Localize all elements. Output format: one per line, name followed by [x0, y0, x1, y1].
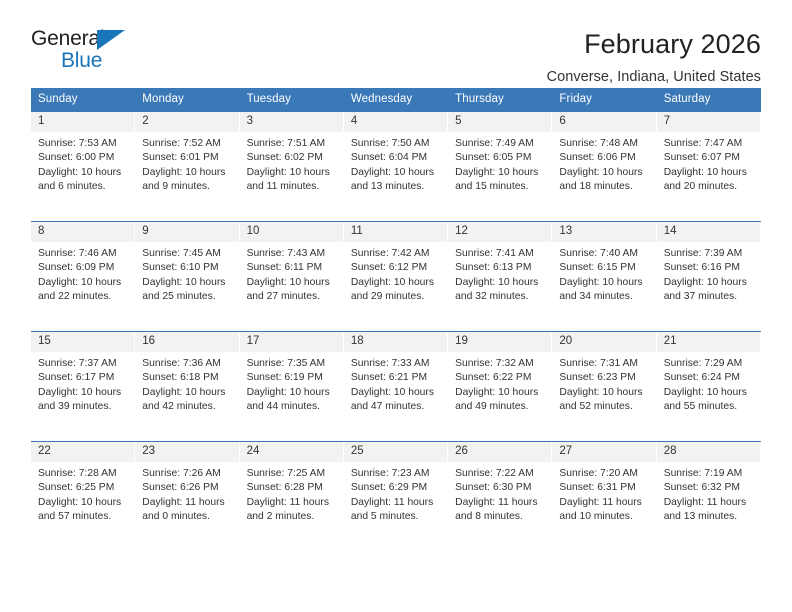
- sunset-text: Sunset: 6:01 PM: [142, 151, 232, 165]
- daylight-text: Daylight: 10 hours and 44 minutes.: [247, 386, 337, 415]
- sunrise-text: Sunrise: 7:41 AM: [455, 247, 545, 261]
- sunrise-text: Sunrise: 7:43 AM: [247, 247, 337, 261]
- day-details: Sunrise: 7:29 AM Sunset: 6:24 PM Dayligh…: [657, 352, 760, 415]
- daylight-text: Daylight: 10 hours and 37 minutes.: [664, 276, 754, 305]
- sunrise-text: Sunrise: 7:52 AM: [142, 137, 232, 151]
- brand-name-blue: Blue: [61, 50, 147, 72]
- sunrise-text: Sunrise: 7:36 AM: [142, 357, 232, 371]
- day-cell[interactable]: 28 Sunrise: 7:19 AM Sunset: 6:32 PM Dayl…: [657, 442, 761, 551]
- sunset-text: Sunset: 6:11 PM: [247, 261, 337, 275]
- daylight-text: Daylight: 10 hours and 32 minutes.: [455, 276, 545, 305]
- sunset-text: Sunset: 6:18 PM: [142, 371, 232, 385]
- calendar-page: General Blue February 2026 Converse, Ind…: [0, 0, 792, 612]
- day-details: Sunrise: 7:20 AM Sunset: 6:31 PM Dayligh…: [552, 462, 655, 525]
- sunset-text: Sunset: 6:13 PM: [455, 261, 545, 275]
- page-subtitle: Converse, Indiana, United States: [547, 67, 761, 87]
- sunset-text: Sunset: 6:04 PM: [351, 151, 441, 165]
- day-details: Sunrise: 7:49 AM Sunset: 6:05 PM Dayligh…: [448, 132, 551, 195]
- day-cell[interactable]: 24 Sunrise: 7:25 AM Sunset: 6:28 PM Dayl…: [240, 442, 344, 551]
- day-cell[interactable]: 4 Sunrise: 7:50 AM Sunset: 6:04 PM Dayli…: [344, 112, 448, 221]
- day-cell[interactable]: 12 Sunrise: 7:41 AM Sunset: 6:13 PM Dayl…: [448, 222, 552, 331]
- sunrise-text: Sunrise: 7:20 AM: [559, 467, 649, 481]
- weekday-header-saturday: Saturday: [657, 88, 761, 111]
- day-details: Sunrise: 7:33 AM Sunset: 6:21 PM Dayligh…: [344, 352, 447, 415]
- sunrise-text: Sunrise: 7:50 AM: [351, 137, 441, 151]
- sunset-text: Sunset: 6:26 PM: [142, 481, 232, 495]
- day-cell[interactable]: 25 Sunrise: 7:23 AM Sunset: 6:29 PM Dayl…: [344, 442, 448, 551]
- day-cell[interactable]: 19 Sunrise: 7:32 AM Sunset: 6:22 PM Dayl…: [448, 332, 552, 441]
- day-cell[interactable]: 23 Sunrise: 7:26 AM Sunset: 6:26 PM Dayl…: [135, 442, 239, 551]
- day-details: Sunrise: 7:53 AM Sunset: 6:00 PM Dayligh…: [31, 132, 134, 195]
- day-details: Sunrise: 7:19 AM Sunset: 6:32 PM Dayligh…: [657, 462, 760, 525]
- sunset-text: Sunset: 6:30 PM: [455, 481, 545, 495]
- daylight-text: Daylight: 10 hours and 39 minutes.: [38, 386, 128, 415]
- day-details: Sunrise: 7:40 AM Sunset: 6:15 PM Dayligh…: [552, 242, 655, 305]
- day-number: 23: [135, 442, 238, 462]
- day-details: Sunrise: 7:28 AM Sunset: 6:25 PM Dayligh…: [31, 462, 134, 525]
- day-number: 3: [240, 112, 343, 132]
- day-cell[interactable]: 21 Sunrise: 7:29 AM Sunset: 6:24 PM Dayl…: [657, 332, 761, 441]
- day-cell[interactable]: 26 Sunrise: 7:22 AM Sunset: 6:30 PM Dayl…: [448, 442, 552, 551]
- page-title: February 2026: [547, 28, 761, 60]
- sunset-text: Sunset: 6:05 PM: [455, 151, 545, 165]
- sunset-text: Sunset: 6:10 PM: [142, 261, 232, 275]
- day-number: 21: [657, 332, 760, 352]
- sunrise-text: Sunrise: 7:37 AM: [38, 357, 128, 371]
- day-number: 1: [31, 112, 134, 132]
- day-cell[interactable]: 22 Sunrise: 7:28 AM Sunset: 6:25 PM Dayl…: [31, 442, 135, 551]
- day-cell[interactable]: 5 Sunrise: 7:49 AM Sunset: 6:05 PM Dayli…: [448, 112, 552, 221]
- daylight-text: Daylight: 11 hours and 0 minutes.: [142, 496, 232, 525]
- day-cell[interactable]: 8 Sunrise: 7:46 AM Sunset: 6:09 PM Dayli…: [31, 222, 135, 331]
- day-cell[interactable]: 6 Sunrise: 7:48 AM Sunset: 6:06 PM Dayli…: [552, 112, 656, 221]
- day-number: 20: [552, 332, 655, 352]
- day-details: Sunrise: 7:23 AM Sunset: 6:29 PM Dayligh…: [344, 462, 447, 525]
- daylight-text: Daylight: 10 hours and 52 minutes.: [559, 386, 649, 415]
- day-number: 11: [344, 222, 447, 242]
- sunset-text: Sunset: 6:32 PM: [664, 481, 754, 495]
- week-row: 22 Sunrise: 7:28 AM Sunset: 6:25 PM Dayl…: [31, 441, 761, 551]
- sunrise-text: Sunrise: 7:19 AM: [664, 467, 754, 481]
- day-details: Sunrise: 7:31 AM Sunset: 6:23 PM Dayligh…: [552, 352, 655, 415]
- day-details: Sunrise: 7:36 AM Sunset: 6:18 PM Dayligh…: [135, 352, 238, 415]
- day-details: Sunrise: 7:50 AM Sunset: 6:04 PM Dayligh…: [344, 132, 447, 195]
- sunrise-text: Sunrise: 7:35 AM: [247, 357, 337, 371]
- calendar-grid: Sunday Monday Tuesday Wednesday Thursday…: [31, 88, 761, 551]
- sunrise-text: Sunrise: 7:40 AM: [559, 247, 649, 261]
- sunset-text: Sunset: 6:21 PM: [351, 371, 441, 385]
- sunset-text: Sunset: 6:17 PM: [38, 371, 128, 385]
- sunrise-text: Sunrise: 7:26 AM: [142, 467, 232, 481]
- sunset-text: Sunset: 6:25 PM: [38, 481, 128, 495]
- sunrise-text: Sunrise: 7:47 AM: [664, 137, 754, 151]
- sunrise-text: Sunrise: 7:39 AM: [664, 247, 754, 261]
- daylight-text: Daylight: 10 hours and 27 minutes.: [247, 276, 337, 305]
- sunrise-text: Sunrise: 7:53 AM: [38, 137, 128, 151]
- sunset-text: Sunset: 6:06 PM: [559, 151, 649, 165]
- sunset-text: Sunset: 6:29 PM: [351, 481, 441, 495]
- sunrise-text: Sunrise: 7:42 AM: [351, 247, 441, 261]
- day-number: 13: [552, 222, 655, 242]
- day-cell[interactable]: 16 Sunrise: 7:36 AM Sunset: 6:18 PM Dayl…: [135, 332, 239, 441]
- day-cell[interactable]: 14 Sunrise: 7:39 AM Sunset: 6:16 PM Dayl…: [657, 222, 761, 331]
- day-cell[interactable]: 27 Sunrise: 7:20 AM Sunset: 6:31 PM Dayl…: [552, 442, 656, 551]
- day-details: Sunrise: 7:32 AM Sunset: 6:22 PM Dayligh…: [448, 352, 551, 415]
- sunset-text: Sunset: 6:07 PM: [664, 151, 754, 165]
- daylight-text: Daylight: 10 hours and 49 minutes.: [455, 386, 545, 415]
- daylight-text: Daylight: 11 hours and 10 minutes.: [559, 496, 649, 525]
- day-details: Sunrise: 7:39 AM Sunset: 6:16 PM Dayligh…: [657, 242, 760, 305]
- day-number: 25: [344, 442, 447, 462]
- sunset-text: Sunset: 6:31 PM: [559, 481, 649, 495]
- daylight-text: Daylight: 11 hours and 8 minutes.: [455, 496, 545, 525]
- week-row: 15 Sunrise: 7:37 AM Sunset: 6:17 PM Dayl…: [31, 331, 761, 441]
- sunrise-text: Sunrise: 7:33 AM: [351, 357, 441, 371]
- sunrise-text: Sunrise: 7:22 AM: [455, 467, 545, 481]
- day-details: Sunrise: 7:45 AM Sunset: 6:10 PM Dayligh…: [135, 242, 238, 305]
- day-number: 16: [135, 332, 238, 352]
- sunrise-text: Sunrise: 7:29 AM: [664, 357, 754, 371]
- day-details: Sunrise: 7:42 AM Sunset: 6:12 PM Dayligh…: [344, 242, 447, 305]
- sunrise-text: Sunrise: 7:25 AM: [247, 467, 337, 481]
- day-number: 28: [657, 442, 760, 462]
- day-cell[interactable]: 20 Sunrise: 7:31 AM Sunset: 6:23 PM Dayl…: [552, 332, 656, 441]
- day-number: 2: [135, 112, 238, 132]
- daylight-text: Daylight: 10 hours and 29 minutes.: [351, 276, 441, 305]
- day-number: 8: [31, 222, 134, 242]
- daylight-text: Daylight: 11 hours and 2 minutes.: [247, 496, 337, 525]
- day-cell[interactable]: 11 Sunrise: 7:42 AM Sunset: 6:12 PM Dayl…: [344, 222, 448, 331]
- day-details: Sunrise: 7:25 AM Sunset: 6:28 PM Dayligh…: [240, 462, 343, 525]
- brand-logo[interactable]: General Blue: [31, 28, 147, 74]
- day-cell[interactable]: 15 Sunrise: 7:37 AM Sunset: 6:17 PM Dayl…: [31, 332, 135, 441]
- sunrise-text: Sunrise: 7:32 AM: [455, 357, 545, 371]
- sunrise-text: Sunrise: 7:28 AM: [38, 467, 128, 481]
- daylight-text: Daylight: 10 hours and 34 minutes.: [559, 276, 649, 305]
- day-number: 17: [240, 332, 343, 352]
- sunrise-text: Sunrise: 7:48 AM: [559, 137, 649, 151]
- day-number: 19: [448, 332, 551, 352]
- sunrise-text: Sunrise: 7:46 AM: [38, 247, 128, 261]
- day-number: 15: [31, 332, 134, 352]
- day-number: 4: [344, 112, 447, 132]
- brand-name-general: General: [31, 28, 147, 50]
- daylight-text: Daylight: 10 hours and 55 minutes.: [664, 386, 754, 415]
- sunset-text: Sunset: 6:00 PM: [38, 151, 128, 165]
- daylight-text: Daylight: 10 hours and 47 minutes.: [351, 386, 441, 415]
- sunrise-text: Sunrise: 7:31 AM: [559, 357, 649, 371]
- sunset-text: Sunset: 6:15 PM: [559, 261, 649, 275]
- sunset-text: Sunset: 6:24 PM: [664, 371, 754, 385]
- sunrise-text: Sunrise: 7:23 AM: [351, 467, 441, 481]
- day-number: 24: [240, 442, 343, 462]
- daylight-text: Daylight: 11 hours and 5 minutes.: [351, 496, 441, 525]
- day-details: Sunrise: 7:22 AM Sunset: 6:30 PM Dayligh…: [448, 462, 551, 525]
- weekday-header-sunday: Sunday: [31, 88, 135, 111]
- day-number: 12: [448, 222, 551, 242]
- sunset-text: Sunset: 6:16 PM: [664, 261, 754, 275]
- day-details: Sunrise: 7:41 AM Sunset: 6:13 PM Dayligh…: [448, 242, 551, 305]
- day-details: Sunrise: 7:52 AM Sunset: 6:01 PM Dayligh…: [135, 132, 238, 195]
- weekday-header-thursday: Thursday: [448, 88, 552, 111]
- weekday-header-wednesday: Wednesday: [344, 88, 448, 111]
- triangle-icon: [97, 30, 125, 50]
- day-cell[interactable]: 17 Sunrise: 7:35 AM Sunset: 6:19 PM Dayl…: [240, 332, 344, 441]
- day-details: Sunrise: 7:37 AM Sunset: 6:17 PM Dayligh…: [31, 352, 134, 415]
- daylight-text: Daylight: 10 hours and 11 minutes.: [247, 166, 337, 195]
- daylight-text: Daylight: 10 hours and 18 minutes.: [559, 166, 649, 195]
- daylight-text: Daylight: 10 hours and 13 minutes.: [351, 166, 441, 195]
- day-number: 18: [344, 332, 447, 352]
- day-cell[interactable]: 2 Sunrise: 7:52 AM Sunset: 6:01 PM Dayli…: [135, 112, 239, 221]
- day-number: 9: [135, 222, 238, 242]
- day-number: 14: [657, 222, 760, 242]
- day-number: 27: [552, 442, 655, 462]
- day-details: Sunrise: 7:51 AM Sunset: 6:02 PM Dayligh…: [240, 132, 343, 195]
- day-number: 10: [240, 222, 343, 242]
- day-cell[interactable]: 3 Sunrise: 7:51 AM Sunset: 6:02 PM Dayli…: [240, 112, 344, 221]
- daylight-text: Daylight: 10 hours and 25 minutes.: [142, 276, 232, 305]
- weekday-header-friday: Friday: [552, 88, 656, 111]
- day-details: Sunrise: 7:46 AM Sunset: 6:09 PM Dayligh…: [31, 242, 134, 305]
- sunrise-text: Sunrise: 7:49 AM: [455, 137, 545, 151]
- daylight-text: Daylight: 10 hours and 22 minutes.: [38, 276, 128, 305]
- week-row: 8 Sunrise: 7:46 AM Sunset: 6:09 PM Dayli…: [31, 221, 761, 331]
- day-cell[interactable]: 10 Sunrise: 7:43 AM Sunset: 6:11 PM Dayl…: [240, 222, 344, 331]
- day-number: 22: [31, 442, 134, 462]
- daylight-text: Daylight: 10 hours and 9 minutes.: [142, 166, 232, 195]
- day-details: Sunrise: 7:48 AM Sunset: 6:06 PM Dayligh…: [552, 132, 655, 195]
- weekday-header-row: Sunday Monday Tuesday Wednesday Thursday…: [31, 88, 761, 111]
- sunset-text: Sunset: 6:28 PM: [247, 481, 337, 495]
- day-number: 7: [657, 112, 760, 132]
- sunrise-text: Sunrise: 7:45 AM: [142, 247, 232, 261]
- daylight-text: Daylight: 10 hours and 20 minutes.: [664, 166, 754, 195]
- day-cell[interactable]: 13 Sunrise: 7:40 AM Sunset: 6:15 PM Dayl…: [552, 222, 656, 331]
- weekday-header-tuesday: Tuesday: [240, 88, 344, 111]
- daylight-text: Daylight: 10 hours and 15 minutes.: [455, 166, 545, 195]
- sunset-text: Sunset: 6:22 PM: [455, 371, 545, 385]
- day-details: Sunrise: 7:26 AM Sunset: 6:26 PM Dayligh…: [135, 462, 238, 525]
- daylight-text: Daylight: 11 hours and 13 minutes.: [664, 496, 754, 525]
- daylight-text: Daylight: 10 hours and 42 minutes.: [142, 386, 232, 415]
- sunset-text: Sunset: 6:19 PM: [247, 371, 337, 385]
- daylight-text: Daylight: 10 hours and 6 minutes.: [38, 166, 128, 195]
- day-cell[interactable]: 7 Sunrise: 7:47 AM Sunset: 6:07 PM Dayli…: [657, 112, 761, 221]
- day-details: Sunrise: 7:43 AM Sunset: 6:11 PM Dayligh…: [240, 242, 343, 305]
- title-block: February 2026 Converse, Indiana, United …: [547, 28, 761, 87]
- daylight-text: Daylight: 10 hours and 57 minutes.: [38, 496, 128, 525]
- page-header: General Blue February 2026 Converse, Ind…: [0, 0, 792, 74]
- day-cell[interactable]: 1 Sunrise: 7:53 AM Sunset: 6:00 PM Dayli…: [31, 112, 135, 221]
- day-cell[interactable]: 18 Sunrise: 7:33 AM Sunset: 6:21 PM Dayl…: [344, 332, 448, 441]
- sunset-text: Sunset: 6:12 PM: [351, 261, 441, 275]
- day-cell[interactable]: 9 Sunrise: 7:45 AM Sunset: 6:10 PM Dayli…: [135, 222, 239, 331]
- sunset-text: Sunset: 6:02 PM: [247, 151, 337, 165]
- weekday-header-monday: Monday: [135, 88, 239, 111]
- day-number: 26: [448, 442, 551, 462]
- sunset-text: Sunset: 6:23 PM: [559, 371, 649, 385]
- sunrise-text: Sunrise: 7:51 AM: [247, 137, 337, 151]
- day-details: Sunrise: 7:47 AM Sunset: 6:07 PM Dayligh…: [657, 132, 760, 195]
- sunset-text: Sunset: 6:09 PM: [38, 261, 128, 275]
- day-number: 6: [552, 112, 655, 132]
- week-row: 1 Sunrise: 7:53 AM Sunset: 6:00 PM Dayli…: [31, 111, 761, 221]
- day-details: Sunrise: 7:35 AM Sunset: 6:19 PM Dayligh…: [240, 352, 343, 415]
- day-number: 5: [448, 112, 551, 132]
